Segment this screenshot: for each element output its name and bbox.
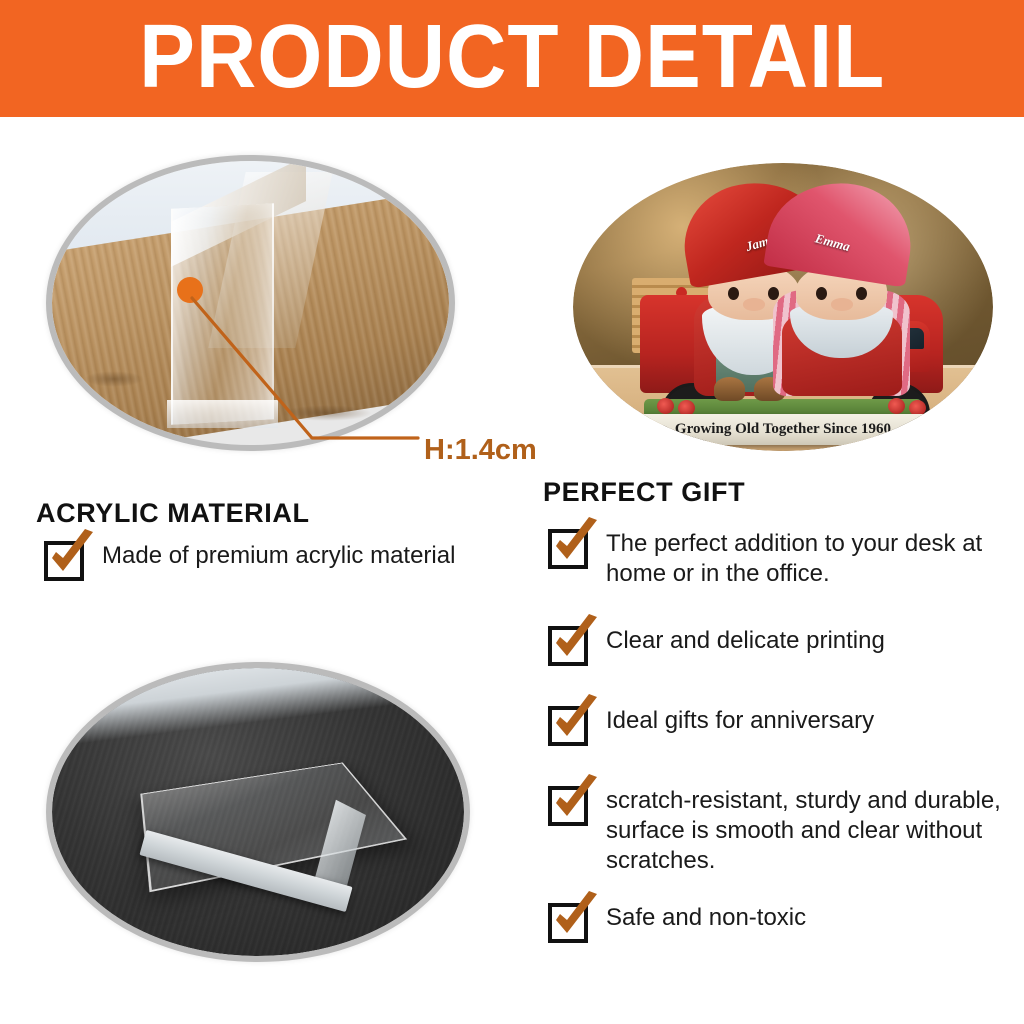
checkmark-icon bbox=[44, 541, 84, 581]
callout-dot-marker bbox=[177, 277, 203, 303]
rose-decoration bbox=[888, 398, 905, 414]
callout-leader-line bbox=[192, 298, 418, 438]
feature-item: Clear and delicate printing bbox=[548, 626, 885, 666]
slate-surface bbox=[52, 668, 464, 956]
feature-text: Ideal gifts for anniversary bbox=[606, 706, 874, 736]
header-banner: PRODUCT DETAIL bbox=[0, 0, 1024, 117]
checkmark-icon bbox=[548, 626, 588, 666]
acrylic-block-flat-photo bbox=[46, 662, 470, 962]
feature-text: Made of premium acrylic material bbox=[102, 541, 455, 571]
dimension-label: H:1.4cm bbox=[424, 434, 537, 467]
feature-item: scratch-resistant, sturdy and durable, s… bbox=[548, 786, 1024, 876]
feature-item: Ideal gifts for anniversary bbox=[548, 706, 874, 746]
section-heading-gift: PERFECT GIFT bbox=[543, 477, 745, 508]
gnome-eye bbox=[728, 287, 739, 300]
checkmark-icon bbox=[548, 786, 588, 826]
page-title: PRODUCT DETAIL bbox=[139, 11, 885, 107]
gnome-hat-right: Emma bbox=[764, 173, 920, 288]
feature-item: Made of premium acrylic material bbox=[44, 541, 455, 581]
figurine-plaque: Growing Old Together Since 1960 bbox=[632, 414, 934, 446]
feature-text: The perfect addition to your desk at hom… bbox=[606, 529, 1024, 589]
hat-name-right: Emma bbox=[785, 222, 880, 262]
rose-decoration bbox=[657, 398, 674, 414]
gnome-couple-product-photo: James Emma Growing Old Together Since 19 bbox=[573, 163, 993, 451]
feature-item: Safe and non-toxic bbox=[548, 903, 806, 943]
slate-highlight bbox=[52, 668, 464, 749]
checkmark-icon bbox=[548, 529, 588, 569]
photo-frame-inner bbox=[52, 668, 464, 956]
wood-grain-knot bbox=[84, 371, 144, 387]
section-heading-acrylic: ACRYLIC MATERIAL bbox=[36, 498, 310, 529]
feature-item: The perfect addition to your desk at hom… bbox=[548, 529, 1024, 589]
feature-text: scratch-resistant, sturdy and durable, s… bbox=[606, 786, 1024, 876]
plaque-text: Growing Old Together Since 1960 bbox=[675, 421, 891, 438]
product-detail-page: PRODUCT DETAIL H:1.4cm bbox=[0, 0, 1024, 1024]
feature-text: Safe and non-toxic bbox=[606, 903, 806, 933]
checkmark-icon bbox=[548, 903, 588, 943]
gnome-eye bbox=[856, 287, 867, 300]
checkmark-icon bbox=[548, 706, 588, 746]
gnome-nose bbox=[831, 298, 853, 310]
feature-text: Clear and delicate printing bbox=[606, 626, 885, 656]
gnome-shoe bbox=[714, 377, 745, 400]
gnome-scene: James Emma Growing Old Together Since 19 bbox=[573, 163, 993, 451]
gnome-nose bbox=[743, 298, 765, 310]
gnome-eye bbox=[816, 287, 827, 300]
gnome-figure-right: Emma bbox=[770, 183, 913, 396]
